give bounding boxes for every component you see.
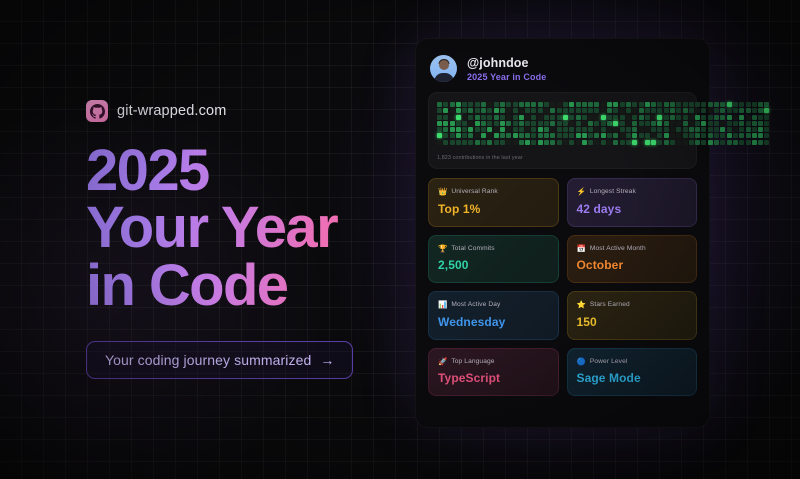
- contribution-cell[interactable]: [519, 102, 524, 107]
- contribution-cell[interactable]: [481, 121, 486, 126]
- contribution-cell[interactable]: [437, 102, 442, 107]
- brand-row[interactable]: git-wrapped.com: [86, 100, 386, 122]
- contribution-cell[interactable]: [727, 108, 732, 113]
- contribution-cell[interactable]: [639, 108, 644, 113]
- contribution-cell[interactable]: [739, 108, 744, 113]
- contribution-cell[interactable]: [594, 127, 599, 132]
- contribution-cell[interactable]: [701, 133, 706, 138]
- contribution-cell[interactable]: [626, 115, 631, 120]
- contribution-cell[interactable]: [701, 115, 706, 120]
- contribution-cell[interactable]: [576, 133, 581, 138]
- contribution-cell[interactable]: [601, 115, 606, 120]
- contribution-cell[interactable]: [657, 127, 662, 132]
- contribution-cell[interactable]: [531, 140, 536, 145]
- contribution-cell[interactable]: [676, 115, 681, 120]
- contribution-cell[interactable]: [651, 115, 656, 120]
- contribution-cell[interactable]: [557, 102, 562, 107]
- contribution-cell[interactable]: [764, 140, 769, 145]
- contribution-cell[interactable]: [746, 115, 751, 120]
- contribution-cell[interactable]: [582, 121, 587, 126]
- contribution-cell[interactable]: [670, 140, 675, 145]
- contribution-cell[interactable]: [645, 102, 650, 107]
- contribution-cell[interactable]: [588, 140, 593, 145]
- contribution-cell[interactable]: [563, 127, 568, 132]
- contribution-cell[interactable]: [701, 102, 706, 107]
- contribution-cell[interactable]: [487, 133, 492, 138]
- contribution-cell[interactable]: [544, 127, 549, 132]
- contribution-cell[interactable]: [758, 108, 763, 113]
- contribution-cell[interactable]: [620, 127, 625, 132]
- contribution-cell[interactable]: [576, 115, 581, 120]
- contribution-cell[interactable]: [683, 140, 688, 145]
- contribution-cell[interactable]: [538, 121, 543, 126]
- contribution-cell[interactable]: [701, 127, 706, 132]
- contribution-cell[interactable]: [475, 121, 480, 126]
- contribution-cell[interactable]: [632, 133, 637, 138]
- contribution-cell[interactable]: [727, 127, 732, 132]
- contribution-cell[interactable]: [468, 140, 473, 145]
- contribution-cell[interactable]: [450, 102, 455, 107]
- contribution-cell[interactable]: [450, 115, 455, 120]
- contribution-cell[interactable]: [676, 127, 681, 132]
- contribution-cell[interactable]: [550, 140, 555, 145]
- contribution-cell[interactable]: [733, 140, 738, 145]
- contribution-cell[interactable]: [582, 108, 587, 113]
- contribution-cell[interactable]: [607, 121, 612, 126]
- contribution-cell[interactable]: [456, 108, 461, 113]
- contribution-cell[interactable]: [714, 127, 719, 132]
- contribution-cell[interactable]: [487, 127, 492, 132]
- contribution-cell[interactable]: [563, 121, 568, 126]
- contribution-cell[interactable]: [506, 102, 511, 107]
- contribution-cell[interactable]: [651, 121, 656, 126]
- contribution-cell[interactable]: [607, 102, 612, 107]
- contribution-cell[interactable]: [525, 108, 530, 113]
- contribution-cell[interactable]: [657, 121, 662, 126]
- contribution-cell[interactable]: [481, 127, 486, 132]
- contribution-cell[interactable]: [701, 121, 706, 126]
- contribution-cell[interactable]: [733, 108, 738, 113]
- contribution-cell[interactable]: [657, 115, 662, 120]
- contribution-cell[interactable]: [683, 108, 688, 113]
- contribution-cell[interactable]: [550, 133, 555, 138]
- contribution-cell[interactable]: [645, 121, 650, 126]
- contribution-cell[interactable]: [506, 127, 511, 132]
- contribution-cell[interactable]: [538, 102, 543, 107]
- contribution-cell[interactable]: [695, 133, 700, 138]
- contribution-cell[interactable]: [727, 115, 732, 120]
- contribution-cell[interactable]: [443, 121, 448, 126]
- contribution-cell[interactable]: [456, 140, 461, 145]
- contribution-cell[interactable]: [468, 102, 473, 107]
- contribution-cell[interactable]: [664, 133, 669, 138]
- contribution-cell[interactable]: [544, 133, 549, 138]
- contribution-cell[interactable]: [727, 140, 732, 145]
- contribution-cell[interactable]: [620, 133, 625, 138]
- contribution-cell[interactable]: [531, 108, 536, 113]
- contribution-cell[interactable]: [714, 133, 719, 138]
- contribution-cell[interactable]: [695, 121, 700, 126]
- contribution-cell[interactable]: [519, 140, 524, 145]
- contribution-cell[interactable]: [594, 121, 599, 126]
- contribution-cell[interactable]: [714, 102, 719, 107]
- contribution-heatmap[interactable]: [437, 102, 688, 147]
- contribution-cell[interactable]: [500, 133, 505, 138]
- contribution-cell[interactable]: [683, 133, 688, 138]
- contribution-cell[interactable]: [651, 102, 656, 107]
- contribution-cell[interactable]: [746, 108, 751, 113]
- contribution-cell[interactable]: [676, 133, 681, 138]
- contribution-cell[interactable]: [475, 102, 480, 107]
- contribution-cell[interactable]: [714, 108, 719, 113]
- contribution-cell[interactable]: [739, 140, 744, 145]
- contribution-cell[interactable]: [563, 115, 568, 120]
- contribution-cell[interactable]: [720, 102, 725, 107]
- contribution-cell[interactable]: [645, 133, 650, 138]
- contribution-cell[interactable]: [739, 102, 744, 107]
- contribution-cell[interactable]: [538, 140, 543, 145]
- contribution-cell[interactable]: [752, 102, 757, 107]
- contribution-cell[interactable]: [550, 108, 555, 113]
- contribution-cell[interactable]: [746, 121, 751, 126]
- contribution-cell[interactable]: [557, 115, 562, 120]
- contribution-cell[interactable]: [632, 121, 637, 126]
- contribution-cell[interactable]: [582, 127, 587, 132]
- contribution-cell[interactable]: [720, 133, 725, 138]
- contribution-cell[interactable]: [594, 133, 599, 138]
- contribution-cell[interactable]: [613, 115, 618, 120]
- contribution-cell[interactable]: [569, 102, 574, 107]
- contribution-cell[interactable]: [708, 133, 713, 138]
- contribution-cell[interactable]: [531, 102, 536, 107]
- contribution-cell[interactable]: [525, 121, 530, 126]
- contribution-cell[interactable]: [613, 108, 618, 113]
- contribution-cell[interactable]: [651, 133, 656, 138]
- contribution-cell[interactable]: [544, 121, 549, 126]
- contribution-cell[interactable]: [569, 127, 574, 132]
- contribution-cell[interactable]: [456, 115, 461, 120]
- contribution-cell[interactable]: [601, 133, 606, 138]
- contribution-cell[interactable]: [727, 102, 732, 107]
- contribution-cell[interactable]: [739, 121, 744, 126]
- contribution-cell[interactable]: [475, 140, 480, 145]
- contribution-cell[interactable]: [475, 133, 480, 138]
- contribution-cell[interactable]: [550, 127, 555, 132]
- contribution-cell[interactable]: [620, 140, 625, 145]
- contribution-cell[interactable]: [525, 133, 530, 138]
- contribution-cell[interactable]: [626, 108, 631, 113]
- contribution-cell[interactable]: [450, 121, 455, 126]
- contribution-cell[interactable]: [462, 108, 467, 113]
- contribution-cell[interactable]: [550, 102, 555, 107]
- contribution-cell[interactable]: [594, 115, 599, 120]
- contribution-cell[interactable]: [739, 127, 744, 132]
- contribution-cell[interactable]: [494, 102, 499, 107]
- contribution-cell[interactable]: [494, 115, 499, 120]
- contribution-cell[interactable]: [613, 133, 618, 138]
- contribution-cell[interactable]: [651, 127, 656, 132]
- contribution-cell[interactable]: [468, 121, 473, 126]
- contribution-cell[interactable]: [468, 127, 473, 132]
- contribution-cell[interactable]: [531, 121, 536, 126]
- contribution-cell[interactable]: [557, 127, 562, 132]
- contribution-cell[interactable]: [639, 127, 644, 132]
- contribution-cell[interactable]: [676, 121, 681, 126]
- contribution-cell[interactable]: [506, 140, 511, 145]
- contribution-cell[interactable]: [626, 140, 631, 145]
- contribution-cell[interactable]: [645, 127, 650, 132]
- contribution-cell[interactable]: [714, 115, 719, 120]
- contribution-cell[interactable]: [639, 102, 644, 107]
- contribution-cell[interactable]: [588, 121, 593, 126]
- contribution-cell[interactable]: [494, 133, 499, 138]
- contribution-cell[interactable]: [594, 102, 599, 107]
- contribution-cell[interactable]: [683, 115, 688, 120]
- contribution-cell[interactable]: [689, 102, 694, 107]
- contribution-cell[interactable]: [569, 140, 574, 145]
- contribution-cell[interactable]: [557, 140, 562, 145]
- contribution-cell[interactable]: [506, 133, 511, 138]
- contribution-cell[interactable]: [764, 102, 769, 107]
- contribution-cell[interactable]: [670, 127, 675, 132]
- contribution-cell[interactable]: [506, 115, 511, 120]
- contribution-cell[interactable]: [607, 140, 612, 145]
- contribution-cell[interactable]: [462, 140, 467, 145]
- contribution-cell[interactable]: [456, 102, 461, 107]
- contribution-cell[interactable]: [513, 115, 518, 120]
- contribution-cell[interactable]: [752, 140, 757, 145]
- contribution-cell[interactable]: [733, 115, 738, 120]
- contribution-cell[interactable]: [607, 133, 612, 138]
- contribution-cell[interactable]: [544, 115, 549, 120]
- contribution-cell[interactable]: [689, 115, 694, 120]
- contribution-cell[interactable]: [582, 140, 587, 145]
- contribution-cell[interactable]: [531, 127, 536, 132]
- contribution-cell[interactable]: [764, 108, 769, 113]
- contribution-cell[interactable]: [607, 108, 612, 113]
- contribution-cell[interactable]: [676, 102, 681, 107]
- contribution-cell[interactable]: [620, 108, 625, 113]
- contribution-cell[interactable]: [639, 133, 644, 138]
- contribution-cell[interactable]: [746, 133, 751, 138]
- contribution-cell[interactable]: [500, 102, 505, 107]
- contribution-cell[interactable]: [708, 108, 713, 113]
- contribution-cell[interactable]: [670, 102, 675, 107]
- contribution-cell[interactable]: [752, 121, 757, 126]
- contribution-cell[interactable]: [494, 127, 499, 132]
- contribution-cell[interactable]: [468, 108, 473, 113]
- contribution-cell[interactable]: [720, 140, 725, 145]
- contribution-cell[interactable]: [443, 133, 448, 138]
- contribution-cell[interactable]: [708, 127, 713, 132]
- contribution-cell[interactable]: [468, 115, 473, 120]
- contribution-cell[interactable]: [456, 133, 461, 138]
- contribution-cell[interactable]: [582, 133, 587, 138]
- contribution-cell[interactable]: [651, 108, 656, 113]
- contribution-cell[interactable]: [525, 140, 530, 145]
- contribution-cell[interactable]: [657, 133, 662, 138]
- contribution-cell[interactable]: [620, 102, 625, 107]
- contribution-cell[interactable]: [752, 133, 757, 138]
- contribution-cell[interactable]: [588, 108, 593, 113]
- contribution-cell[interactable]: [525, 102, 530, 107]
- contribution-cell[interactable]: [733, 102, 738, 107]
- contribution-cell[interactable]: [758, 133, 763, 138]
- contribution-cell[interactable]: [569, 115, 574, 120]
- contribution-cell[interactable]: [752, 115, 757, 120]
- contribution-cell[interactable]: [632, 115, 637, 120]
- contribution-cell[interactable]: [746, 127, 751, 132]
- contribution-cell[interactable]: [450, 140, 455, 145]
- contribution-cell[interactable]: [525, 127, 530, 132]
- contribution-cell[interactable]: [437, 140, 442, 145]
- contribution-cell[interactable]: [576, 140, 581, 145]
- contribution-cell[interactable]: [720, 115, 725, 120]
- contribution-cell[interactable]: [601, 140, 606, 145]
- contribution-cell[interactable]: [720, 127, 725, 132]
- contribution-cell[interactable]: [708, 102, 713, 107]
- contribution-cell[interactable]: [670, 121, 675, 126]
- contribution-cell[interactable]: [720, 108, 725, 113]
- contribution-cell[interactable]: [576, 121, 581, 126]
- contribution-cell[interactable]: [752, 127, 757, 132]
- contribution-cell[interactable]: [645, 115, 650, 120]
- contribution-cell[interactable]: [689, 127, 694, 132]
- contribution-cell[interactable]: [632, 127, 637, 132]
- contribution-cell[interactable]: [468, 133, 473, 138]
- contribution-cell[interactable]: [443, 102, 448, 107]
- contribution-cell[interactable]: [582, 102, 587, 107]
- contribution-cell[interactable]: [494, 108, 499, 113]
- contribution-cell[interactable]: [588, 102, 593, 107]
- contribution-cell[interactable]: [475, 127, 480, 132]
- contribution-cell[interactable]: [645, 140, 650, 145]
- contribution-cell[interactable]: [531, 133, 536, 138]
- contribution-cell[interactable]: [639, 115, 644, 120]
- contribution-cell[interactable]: [607, 127, 612, 132]
- contribution-cell[interactable]: [506, 121, 511, 126]
- contribution-cell[interactable]: [487, 108, 492, 113]
- contribution-cell[interactable]: [487, 140, 492, 145]
- contribution-cell[interactable]: [657, 108, 662, 113]
- contribution-cell[interactable]: [481, 140, 486, 145]
- contribution-cell[interactable]: [487, 121, 492, 126]
- contribution-cell[interactable]: [582, 115, 587, 120]
- contribution-cell[interactable]: [563, 108, 568, 113]
- contribution-cell[interactable]: [437, 127, 442, 132]
- contribution-cell[interactable]: [437, 108, 442, 113]
- contribution-cell[interactable]: [462, 115, 467, 120]
- contribution-cell[interactable]: [620, 121, 625, 126]
- contribution-cell[interactable]: [683, 121, 688, 126]
- contribution-cell[interactable]: [462, 127, 467, 132]
- contribution-cell[interactable]: [437, 115, 442, 120]
- contribution-cell[interactable]: [720, 121, 725, 126]
- contribution-cell[interactable]: [513, 133, 518, 138]
- contribution-cell[interactable]: [764, 121, 769, 126]
- contribution-cell[interactable]: [695, 108, 700, 113]
- contribution-cell[interactable]: [550, 115, 555, 120]
- contribution-cell[interactable]: [664, 121, 669, 126]
- contribution-cell[interactable]: [626, 127, 631, 132]
- contribution-cell[interactable]: [764, 115, 769, 120]
- contribution-cell[interactable]: [632, 140, 637, 145]
- contribution-cell[interactable]: [519, 133, 524, 138]
- contribution-cell[interactable]: [456, 127, 461, 132]
- contribution-cell[interactable]: [513, 108, 518, 113]
- contribution-cell[interactable]: [588, 133, 593, 138]
- contribution-cell[interactable]: [733, 121, 738, 126]
- contribution-cell[interactable]: [456, 121, 461, 126]
- contribution-cell[interactable]: [689, 108, 694, 113]
- contribution-cell[interactable]: [569, 133, 574, 138]
- contribution-cell[interactable]: [695, 102, 700, 107]
- contribution-cell[interactable]: [563, 133, 568, 138]
- contribution-cell[interactable]: [746, 102, 751, 107]
- contribution-cell[interactable]: [664, 115, 669, 120]
- cta-button[interactable]: Your coding journey summarized →: [86, 341, 353, 379]
- contribution-cell[interactable]: [639, 121, 644, 126]
- contribution-cell[interactable]: [531, 115, 536, 120]
- contribution-cell[interactable]: [538, 108, 543, 113]
- contribution-cell[interactable]: [601, 127, 606, 132]
- contribution-cell[interactable]: [758, 115, 763, 120]
- contribution-cell[interactable]: [481, 133, 486, 138]
- contribution-cell[interactable]: [626, 133, 631, 138]
- contribution-cell[interactable]: [701, 108, 706, 113]
- contribution-cell[interactable]: [538, 127, 543, 132]
- contribution-cell[interactable]: [664, 102, 669, 107]
- contribution-cell[interactable]: [620, 115, 625, 120]
- contribution-cell[interactable]: [588, 115, 593, 120]
- contribution-cell[interactable]: [443, 140, 448, 145]
- contribution-cell[interactable]: [588, 127, 593, 132]
- contribution-cell[interactable]: [437, 121, 442, 126]
- contribution-cell[interactable]: [746, 140, 751, 145]
- contribution-cell[interactable]: [601, 108, 606, 113]
- contribution-cell[interactable]: [500, 108, 505, 113]
- contribution-cell[interactable]: [462, 102, 467, 107]
- contribution-cell[interactable]: [632, 108, 637, 113]
- contribution-cell[interactable]: [519, 127, 524, 132]
- contribution-cell[interactable]: [513, 121, 518, 126]
- contribution-cell[interactable]: [727, 133, 732, 138]
- contribution-cell[interactable]: [544, 108, 549, 113]
- contribution-cell[interactable]: [670, 133, 675, 138]
- contribution-cell[interactable]: [683, 102, 688, 107]
- contribution-cell[interactable]: [664, 140, 669, 145]
- contribution-cell[interactable]: [764, 127, 769, 132]
- contribution-cell[interactable]: [689, 121, 694, 126]
- contribution-cell[interactable]: [613, 121, 618, 126]
- contribution-cell[interactable]: [626, 121, 631, 126]
- contribution-cell[interactable]: [695, 127, 700, 132]
- contribution-cell[interactable]: [613, 102, 618, 107]
- contribution-cell[interactable]: [443, 108, 448, 113]
- contribution-cell[interactable]: [576, 127, 581, 132]
- contribution-cell[interactable]: [557, 121, 562, 126]
- contribution-cell[interactable]: [758, 140, 763, 145]
- contribution-cell[interactable]: [475, 108, 480, 113]
- contribution-cell[interactable]: [752, 108, 757, 113]
- contribution-cell[interactable]: [576, 102, 581, 107]
- contribution-cell[interactable]: [670, 108, 675, 113]
- contribution-cell[interactable]: [626, 102, 631, 107]
- contribution-cell[interactable]: [557, 108, 562, 113]
- contribution-cell[interactable]: [481, 102, 486, 107]
- contribution-cell[interactable]: [475, 115, 480, 120]
- contribution-cell[interactable]: [557, 133, 562, 138]
